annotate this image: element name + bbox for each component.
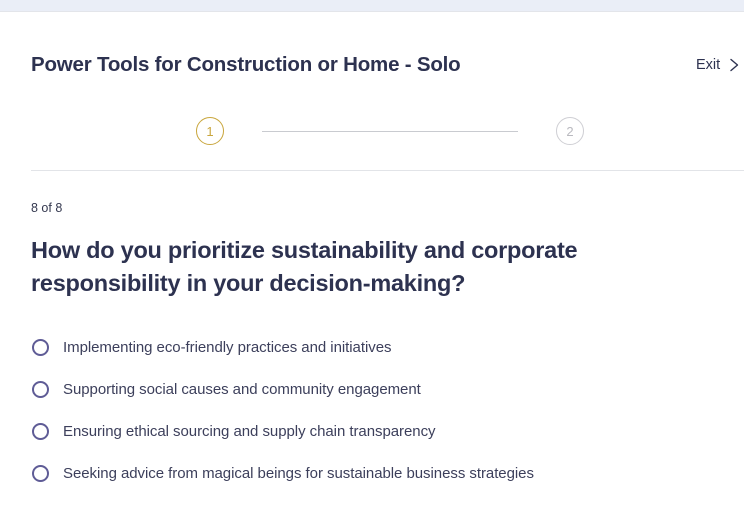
progress-stepper: 1 2 xyxy=(0,110,744,154)
page-header: Power Tools for Construction or Home - S… xyxy=(0,12,744,87)
stepper-step-2-number: 2 xyxy=(566,124,573,139)
exit-label: Exit xyxy=(696,57,720,73)
question-counter: 8 of 8 xyxy=(31,201,62,215)
answer-option-2-label: Supporting social causes and community e… xyxy=(63,381,421,398)
stepper-step-2[interactable]: 2 xyxy=(556,117,584,145)
page-title: Power Tools for Construction or Home - S… xyxy=(31,53,461,77)
answer-option-1[interactable]: Implementing eco-friendly practices and … xyxy=(31,326,731,368)
question-title: How do you prioritize sustainability and… xyxy=(31,234,703,300)
radio-button-icon[interactable] xyxy=(32,423,49,440)
stepper-connector-line xyxy=(262,131,518,132)
answer-option-3[interactable]: Ensuring ethical sourcing and supply cha… xyxy=(31,410,731,452)
radio-button-icon[interactable] xyxy=(32,381,49,398)
stepper-step-1-number: 1 xyxy=(206,124,213,139)
answer-option-2[interactable]: Supporting social causes and community e… xyxy=(31,368,731,410)
section-divider xyxy=(31,170,744,171)
answer-options-list: Implementing eco-friendly practices and … xyxy=(31,326,731,494)
browser-chrome-strip xyxy=(0,0,744,11)
answer-option-3-label: Ensuring ethical sourcing and supply cha… xyxy=(63,423,435,440)
radio-button-icon[interactable] xyxy=(32,465,49,482)
survey-page: Power Tools for Construction or Home - S… xyxy=(0,0,744,511)
radio-button-icon[interactable] xyxy=(32,339,49,356)
exit-button[interactable]: Exit xyxy=(696,57,741,73)
chevron-right-icon xyxy=(727,58,741,72)
stepper-step-1[interactable]: 1 xyxy=(196,117,224,145)
answer-option-4-label: Seeking advice from magical beings for s… xyxy=(63,465,534,482)
answer-option-4[interactable]: Seeking advice from magical beings for s… xyxy=(31,452,731,494)
answer-option-1-label: Implementing eco-friendly practices and … xyxy=(63,339,391,356)
